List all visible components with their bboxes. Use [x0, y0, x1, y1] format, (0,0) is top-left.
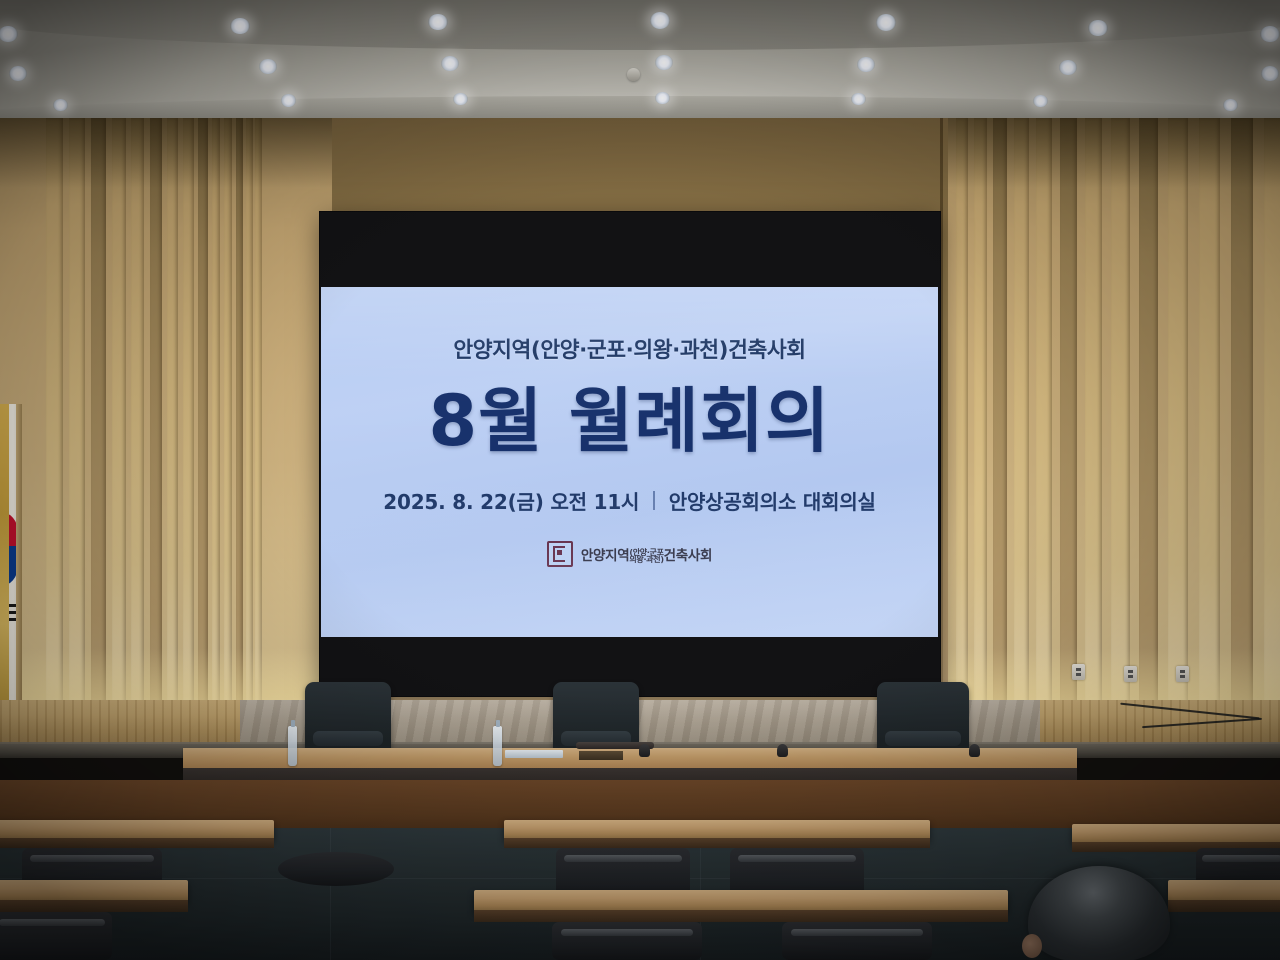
- water-bottle[interactable]: [288, 726, 297, 766]
- logo-paren-group: (안양·군포의왕·과천): [629, 549, 663, 564]
- power-outlet: [1124, 666, 1137, 682]
- wall-slat: [167, 118, 179, 738]
- wall-slat: [1264, 118, 1280, 738]
- microphone-base[interactable]: [777, 744, 788, 757]
- wall-slat: [69, 118, 85, 738]
- ceiling-downlight: [1260, 26, 1280, 42]
- ceiling-downlight: [857, 57, 875, 72]
- logo-text-tail: 건축사회: [664, 548, 712, 564]
- conference-hall-photo: 안양지역(안양·군포·의왕·과천)건축사회 8월 월례회의 2025. 8. 2…: [0, 0, 1280, 960]
- audience-table: [0, 880, 188, 902]
- slide-venue: 안양상공회의소 대회의실: [669, 486, 876, 515]
- flag-gold-fringe: [0, 404, 9, 734]
- audience-chair[interactable]: [0, 912, 112, 960]
- slide-title: 8월 월례회의: [428, 384, 830, 458]
- microphone-base[interactable]: [639, 744, 650, 757]
- logo-text-main: 안양지역: [581, 548, 629, 564]
- wall-slat: [1139, 118, 1158, 738]
- ceiling-downlight: [428, 14, 448, 30]
- wall-slat: [1199, 118, 1220, 738]
- office-chair-base[interactable]: [278, 852, 394, 886]
- wall-slat: [1231, 118, 1253, 738]
- ceiling-downlight: [9, 66, 27, 81]
- wall-slat: [91, 118, 106, 738]
- ceiling-downlight: [281, 94, 296, 106]
- wall-slat: [1168, 118, 1188, 738]
- audience-table: [474, 890, 1008, 912]
- wall-slat: [255, 118, 262, 738]
- wall-slat: [1111, 118, 1129, 738]
- right-wall-slat-panel: [948, 118, 1280, 738]
- ceiling-downlight: [650, 12, 670, 28]
- wall-slat: [974, 118, 987, 738]
- ceiling-downlight: [441, 56, 459, 71]
- audience-table: [1072, 824, 1280, 844]
- ceiling-downlight: [1223, 99, 1238, 111]
- head-table: [183, 748, 1077, 770]
- ceiling-downlight: [453, 93, 468, 105]
- wall-slat: [1085, 118, 1102, 738]
- slide-date: 2025. 8. 22(금) 오전 11시: [383, 486, 639, 515]
- ceiling-downlight: [1059, 60, 1077, 75]
- wall-slat: [131, 118, 144, 738]
- wall-slat: [956, 118, 968, 738]
- wall-slat: [198, 118, 208, 738]
- microphone-base[interactable]: [969, 744, 980, 757]
- document-on-table[interactable]: [505, 750, 563, 758]
- korean-national-flag: [0, 404, 22, 734]
- wall-slat: [46, 118, 63, 738]
- wall-slat: [183, 118, 194, 738]
- water-bottle[interactable]: [493, 726, 502, 766]
- wall-slat: [150, 118, 163, 738]
- ceiling-downlight: [655, 92, 670, 104]
- slide-meta-line: 2025. 8. 22(금) 오전 11시 안양상공회의소 대회의실: [383, 486, 875, 515]
- smoke-detector: [627, 68, 640, 81]
- audience-chair[interactable]: [552, 922, 702, 960]
- ceiling-downlight: [851, 93, 866, 105]
- audience-table: [0, 820, 274, 840]
- flag-pole: [16, 404, 22, 734]
- ceiling-downlight: [655, 55, 673, 70]
- audience-chair[interactable]: [782, 922, 932, 960]
- logo-paren-bottom: 의왕·과천: [629, 555, 660, 564]
- ceiling-downlight: [259, 59, 277, 74]
- left-wall-slat-panel: [0, 118, 332, 738]
- stage-chair[interactable]: [305, 682, 391, 754]
- wall-slat: [112, 118, 126, 738]
- ceiling-downlight: [0, 26, 18, 42]
- organization-logo-text: 안양지역(안양·군포의왕·과천)건축사회: [581, 544, 712, 564]
- audience-table: [1168, 880, 1280, 902]
- wall-slat: [1036, 118, 1052, 738]
- meta-divider: [653, 491, 655, 510]
- anyang-architects-emblem-icon: [547, 541, 573, 567]
- ceiling-downlight: [53, 99, 68, 111]
- ceiling: [0, 0, 1280, 128]
- power-outlet: [1176, 666, 1189, 682]
- wall-slat: [1060, 118, 1077, 738]
- wall-slat: [993, 118, 1007, 738]
- gavel-stand: [579, 751, 623, 760]
- organization-logo: 안양지역(안양·군포의왕·과천)건축사회: [547, 541, 712, 567]
- audience-table: [504, 820, 930, 840]
- ceiling-downlight: [1088, 20, 1108, 36]
- slide-subtitle: 안양지역(안양·군포·의왕·과천)건축사회: [453, 333, 805, 364]
- presentation-slide[interactable]: 안양지역(안양·군포·의왕·과천)건축사회 8월 월례회의 2025. 8. 2…: [321, 287, 938, 637]
- ceiling-downlight: [1261, 66, 1279, 81]
- wall-slat: [246, 118, 253, 738]
- wall-slat: [212, 118, 221, 738]
- wall-slat: [1014, 118, 1029, 738]
- power-outlet: [1072, 664, 1085, 680]
- ceiling-downlight: [876, 14, 896, 30]
- wall-slat: [236, 118, 243, 738]
- audience-member-ear: [1022, 934, 1042, 958]
- ceiling-downlight: [1033, 95, 1048, 107]
- wall-slat: [224, 118, 232, 738]
- stage-chair[interactable]: [877, 682, 969, 754]
